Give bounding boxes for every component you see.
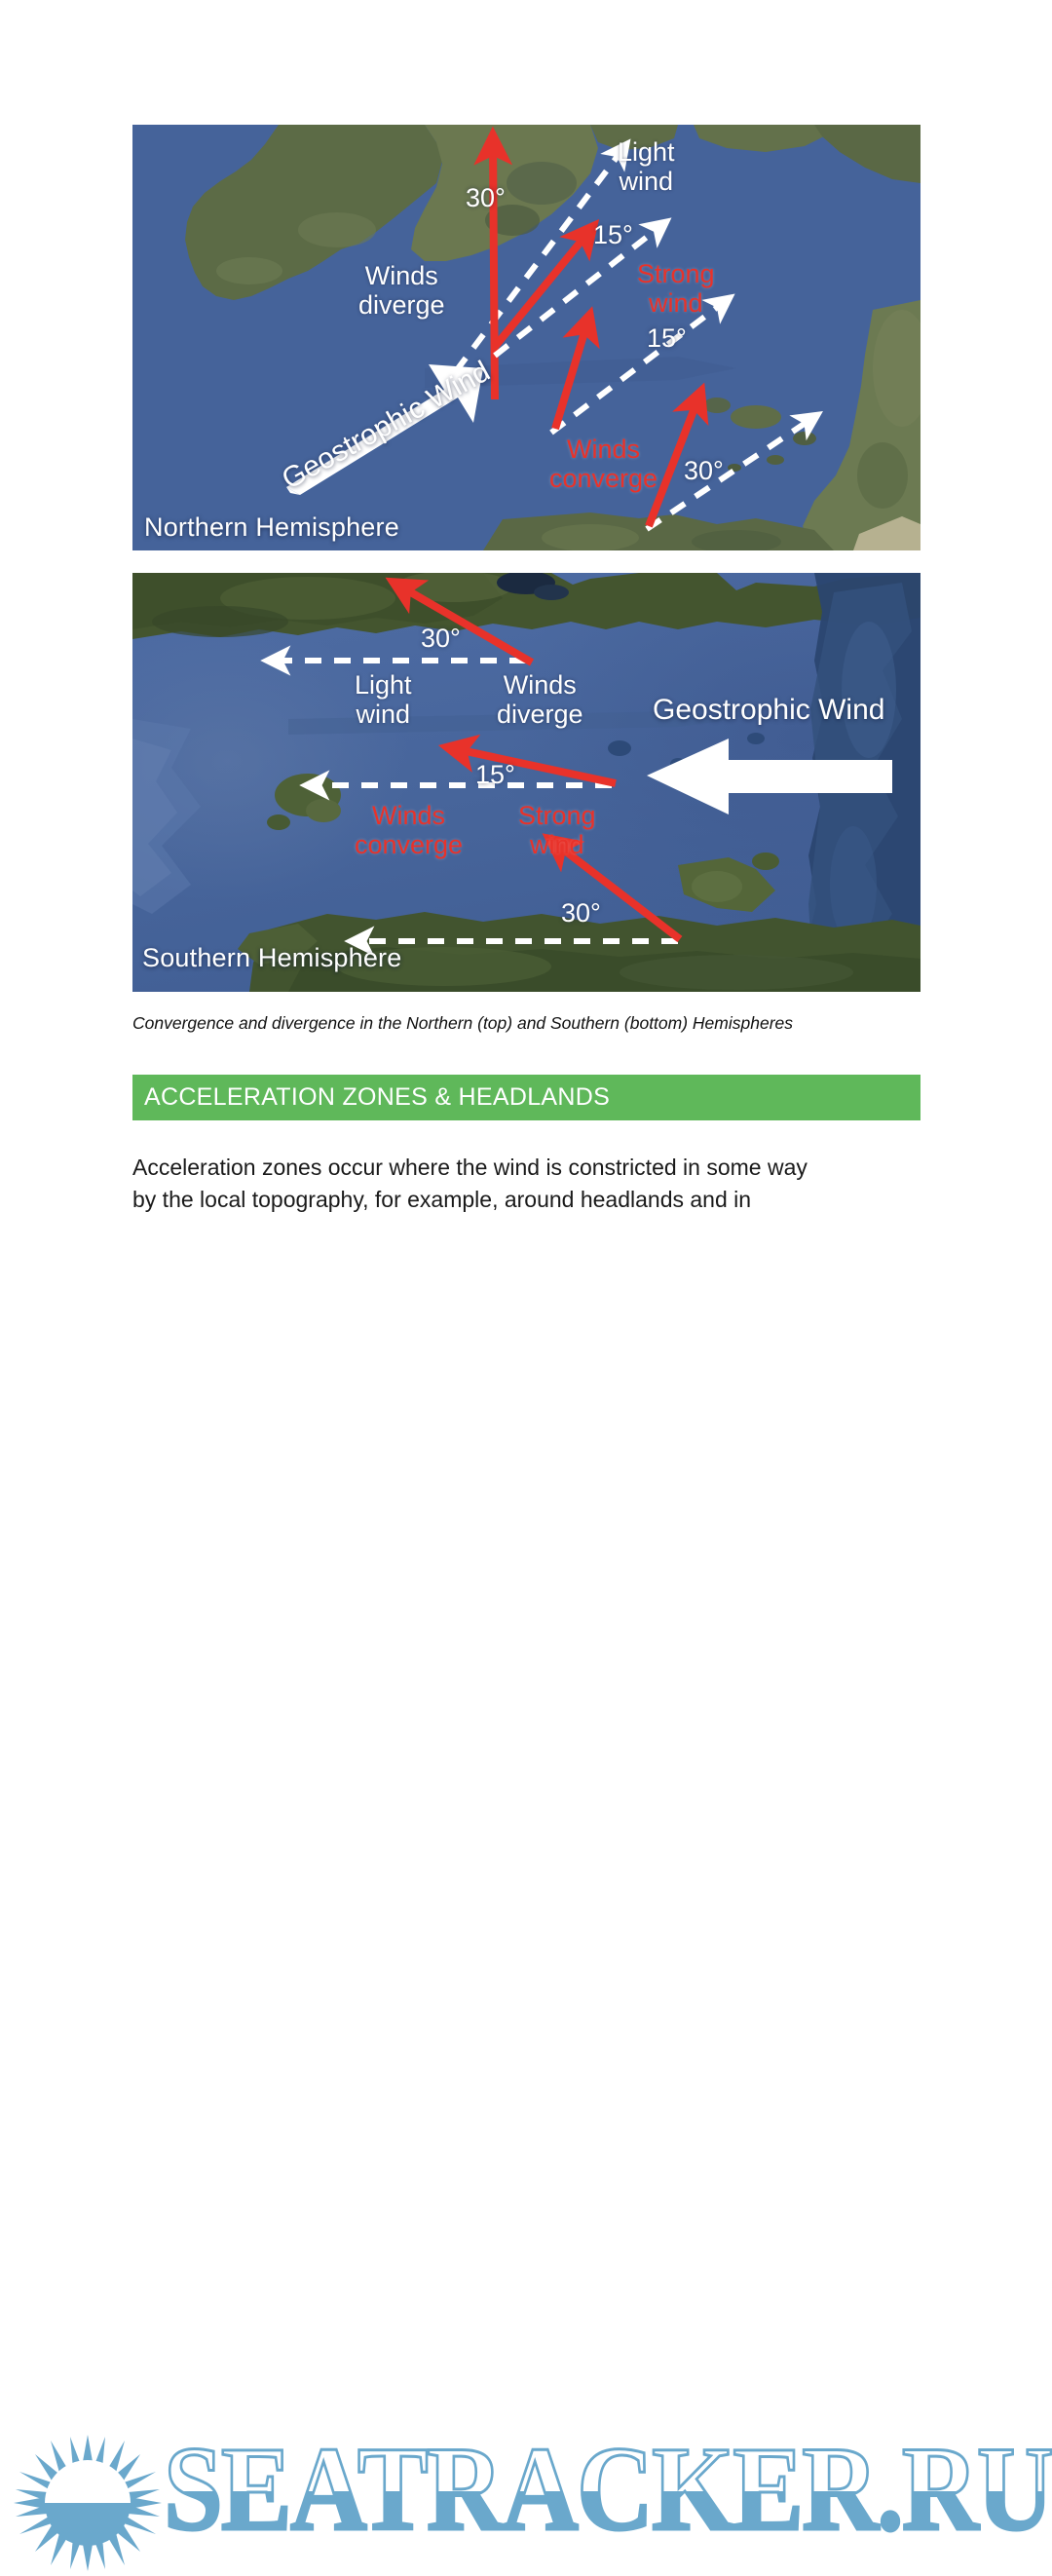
body-line-1: Acceleration zones occur where the wind … [132, 1152, 923, 1184]
label-winds-converge-south: Winds converge [355, 801, 463, 859]
wind-vectors-north [132, 125, 920, 550]
body-line-2: by the local topography, for example, ar… [132, 1184, 923, 1216]
angle-label-30-se-north: 30° [684, 456, 724, 486]
angle-label-30-nw: 30° [466, 183, 506, 213]
label-strong-wind-north: Strong wind [637, 259, 715, 318]
sun-icon [14, 2435, 162, 2571]
angle-label-30-upper-south: 30° [421, 624, 461, 654]
label-strong-wind-south: Strong wind [518, 801, 596, 859]
wind-vectors-south [132, 573, 920, 992]
label-geostrophic-wind-south: Geostrophic Wind [653, 694, 884, 727]
svg-text:SEATRACKER.RU: SEATRACKER.RU [164, 2422, 1052, 2556]
label-southern-hemisphere: Southern Hemisphere [142, 943, 401, 973]
label-winds-diverge-north: Winds diverge [358, 261, 445, 320]
section-heading-bar: ACCELERATION ZONES & HEADLANDS [132, 1075, 920, 1120]
label-light-wind-north: Light wind [618, 137, 675, 196]
geostrophic-arrow-south [647, 739, 892, 814]
angle-label-15-lower-north: 15° [647, 323, 687, 354]
figure-convergence-divergence: 30° Winds diverge Light wind 15° Strong … [132, 125, 920, 992]
angle-label-15-south: 15° [475, 760, 515, 790]
real-wind-arrow-lc [555, 320, 588, 429]
isobar-dashed-nw [456, 147, 624, 371]
label-winds-diverge-south: Winds diverge [497, 670, 583, 729]
label-light-wind-south: Light wind [355, 670, 412, 729]
label-winds-converge-north: Winds converge [549, 435, 657, 493]
map-southern-hemisphere: 30° Light wind Winds diverge 15° Winds c… [132, 573, 920, 992]
real-wind-arrow-c [495, 230, 590, 347]
watermark-seatracker: SEATRACKER.RU [0, 1211, 1052, 1361]
angle-label-30-lower-south: 30° [561, 898, 601, 928]
figure-caption: Convergence and divergence in the Northe… [132, 1013, 923, 1034]
real-wind-arrow-nw [493, 140, 495, 399]
label-northern-hemisphere: Northern Hemisphere [144, 512, 399, 543]
section-heading-text: ACCELERATION ZONES & HEADLANDS [132, 1083, 610, 1112]
body-paragraph: Acceleration zones occur where the wind … [132, 1152, 923, 1215]
angle-label-15-upper-north: 15° [593, 220, 633, 250]
watermark-text: SEATRACKER.RU [164, 2433, 1052, 2550]
real-wind-arrow-n-s [397, 585, 532, 663]
map-northern-hemisphere: 30° Winds diverge Light wind 15° Strong … [132, 125, 920, 550]
